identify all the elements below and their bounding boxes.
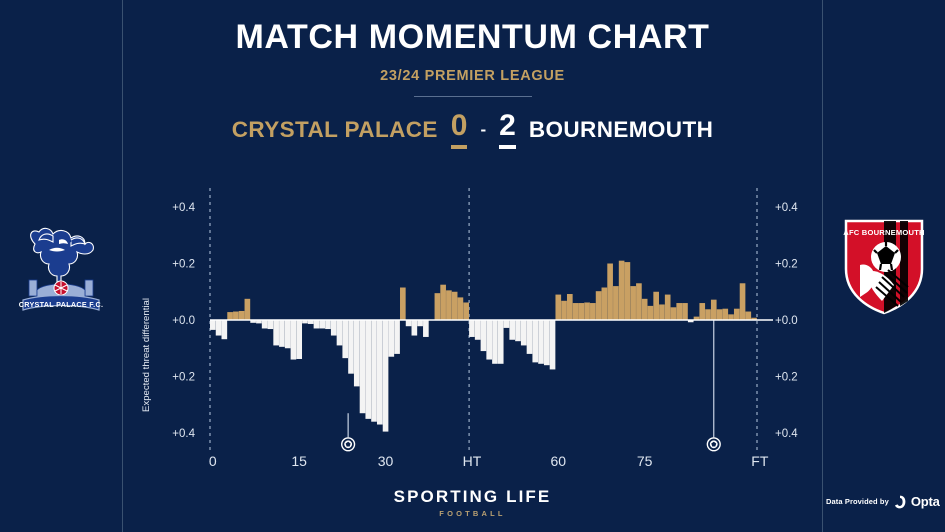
momentum-bar [573, 303, 579, 320]
data-credit-text: Data Provided by [826, 497, 889, 506]
y-axis-right-labels: +0.4+0.2+0.0+0.2+0.4 [775, 202, 798, 440]
scoreline: CRYSTAL PALACE 0 - 2 BOURNEMOUTH [123, 111, 822, 149]
momentum-bar [279, 320, 285, 347]
y-tick-label-left: +0.4 [172, 428, 195, 440]
momentum-bar [239, 311, 245, 320]
momentum-bar [331, 320, 337, 336]
momentum-bar [273, 320, 279, 345]
competition-subtitle: 23/24 PREMIER LEAGUE [123, 68, 822, 84]
momentum-bar [619, 261, 625, 320]
header-divider [414, 96, 532, 97]
momentum-bar [365, 320, 371, 419]
momentum-bar [699, 303, 705, 320]
momentum-bar [538, 320, 544, 364]
momentum-bar [590, 303, 596, 320]
y-tick-label-left: +0.0 [172, 315, 195, 327]
x-tick-label: 15 [291, 453, 307, 469]
x-tick-label: FT [751, 453, 769, 469]
momentum-bar [567, 294, 573, 320]
momentum-bar [734, 309, 740, 320]
y-tick-label-right: +0.4 [775, 202, 798, 214]
momentum-bar [642, 299, 648, 320]
y-axis-left-labels: +0.4+0.2+0.0+0.2+0.4 [172, 202, 195, 440]
momentum-bar [452, 292, 458, 320]
momentum-bar [210, 320, 216, 330]
y-tick-label-left: +0.4 [172, 202, 195, 214]
y-tick-label-right: +0.2 [775, 372, 798, 384]
momentum-bar [705, 309, 711, 320]
momentum-bar [417, 320, 423, 326]
home-crest-label: CRYSTAL PALACE F.C. [19, 300, 104, 309]
momentum-bar [446, 290, 452, 320]
match-momentum-infographic: CRYSTAL PALACE F.C. AFC BOURNEMOUTH MATC… [0, 0, 945, 532]
away-team-name: BOURNEMOUTH [529, 117, 713, 143]
momentum-bar [596, 291, 602, 320]
x-tick-label: HT [463, 453, 482, 469]
x-tick-label: 60 [551, 453, 567, 469]
momentum-bar [509, 320, 515, 340]
y-tick-label-right: +0.2 [775, 259, 798, 271]
momentum-bar [342, 320, 348, 358]
momentum-bar [400, 288, 406, 320]
momentum-bar [728, 314, 734, 320]
momentum-bar [613, 286, 619, 320]
momentum-bar [388, 320, 394, 357]
momentum-bar [360, 320, 366, 413]
momentum-bar [584, 302, 590, 320]
momentum-bar [717, 309, 723, 320]
momentum-bar [504, 320, 510, 328]
away-team-score: 2 [499, 111, 516, 149]
bar-series [210, 261, 757, 432]
data-provider-name: Opta [911, 494, 940, 509]
away-crest-label: AFC BOURNEMOUTH [843, 228, 924, 237]
momentum-bar [216, 320, 222, 336]
momentum-bar [653, 292, 659, 320]
momentum-bar [354, 320, 360, 386]
momentum-bar [602, 288, 608, 320]
momentum-bar [607, 264, 613, 321]
momentum-bar [406, 320, 412, 326]
momentum-bar [722, 309, 728, 320]
crystal-palace-crest-icon: CRYSTAL PALACE F.C. [13, 210, 109, 322]
momentum-chart-svg: +0.4+0.2+0.0+0.2+0.4 +0.4+0.2+0.0+0.2+0.… [123, 180, 822, 490]
x-axis-labels: 01530HT6075FT [209, 453, 769, 469]
momentum-bar [648, 306, 654, 320]
momentum-bar [268, 320, 274, 329]
momentum-bar [440, 285, 446, 320]
momentum-bar [515, 320, 521, 341]
x-tick-label: 75 [637, 453, 653, 469]
momentum-bar [521, 320, 527, 345]
momentum-bar [291, 320, 297, 360]
momentum-bar [555, 295, 561, 320]
momentum-bar [745, 312, 751, 320]
momentum-bar [492, 320, 498, 364]
momentum-bar [676, 303, 682, 320]
momentum-bar [671, 307, 677, 320]
momentum-bar [227, 312, 233, 320]
momentum-bar [325, 320, 331, 329]
momentum-bar [469, 320, 475, 337]
momentum-bar [682, 303, 688, 320]
momentum-chart: +0.4+0.2+0.0+0.2+0.4 +0.4+0.2+0.0+0.2+0.… [123, 180, 822, 490]
brand-name: SPORTING LIFE [123, 487, 822, 507]
momentum-bar [630, 286, 636, 320]
momentum-bar [475, 320, 481, 340]
momentum-bar [550, 320, 556, 369]
momentum-bar [245, 299, 251, 320]
sporting-life-logo: SPORTING LIFE FOOTBALL [123, 487, 822, 518]
momentum-bar [625, 262, 631, 320]
away-team-crest: AFC BOURNEMOUTH [823, 0, 945, 532]
home-team-score: 0 [451, 111, 468, 149]
momentum-bar [498, 320, 504, 364]
brand-section: FOOTBALL [123, 509, 822, 518]
home-team-crest: CRYSTAL PALACE F.C. [0, 0, 122, 532]
momentum-bar [458, 297, 464, 320]
momentum-bar [383, 320, 389, 432]
y-tick-label-right: +0.4 [775, 428, 798, 440]
momentum-bar [371, 320, 377, 422]
momentum-bar [665, 295, 671, 320]
momentum-bar [486, 320, 492, 360]
momentum-bar [233, 312, 239, 320]
score-separator: - [480, 120, 486, 140]
momentum-bar [481, 320, 487, 351]
x-tick-label: 0 [209, 453, 217, 469]
opta-logo-icon [894, 495, 906, 509]
momentum-bar [579, 303, 585, 320]
momentum-bar [285, 320, 291, 348]
opta-credit: Data Provided by Opta [826, 494, 940, 509]
header: MATCH MOMENTUM CHART 23/24 PREMIER LEAGU… [123, 0, 822, 149]
momentum-bar [527, 320, 533, 354]
momentum-bar [435, 293, 441, 320]
home-team-name: CRYSTAL PALACE [232, 117, 438, 143]
momentum-bar [423, 320, 429, 337]
y-tick-label-left: +0.2 [172, 259, 195, 271]
momentum-bar [636, 283, 642, 320]
momentum-bar [337, 320, 343, 345]
momentum-bar [314, 320, 320, 328]
y-axis-title: Expected threat differential [141, 298, 152, 412]
x-tick-label: 30 [378, 453, 394, 469]
momentum-bar [222, 320, 228, 339]
momentum-bar [659, 304, 665, 320]
momentum-bar [319, 320, 325, 328]
momentum-bar [348, 320, 354, 374]
momentum-bar [544, 320, 550, 365]
momentum-bar [377, 320, 383, 425]
page-title: MATCH MOMENTUM CHART [123, 18, 822, 57]
momentum-bar [262, 320, 268, 328]
y-tick-label-left: +0.2 [172, 372, 195, 384]
momentum-bar [711, 300, 717, 320]
momentum-bar [740, 283, 746, 320]
momentum-bar [296, 320, 302, 359]
momentum-bar [394, 320, 400, 354]
y-tick-label-right: +0.0 [775, 315, 798, 327]
momentum-bar [463, 302, 469, 320]
momentum-bar [532, 320, 538, 362]
momentum-bar [561, 301, 567, 320]
afc-bournemouth-crest-icon: AFC BOURNEMOUTH [838, 213, 930, 319]
momentum-bar [412, 320, 418, 336]
